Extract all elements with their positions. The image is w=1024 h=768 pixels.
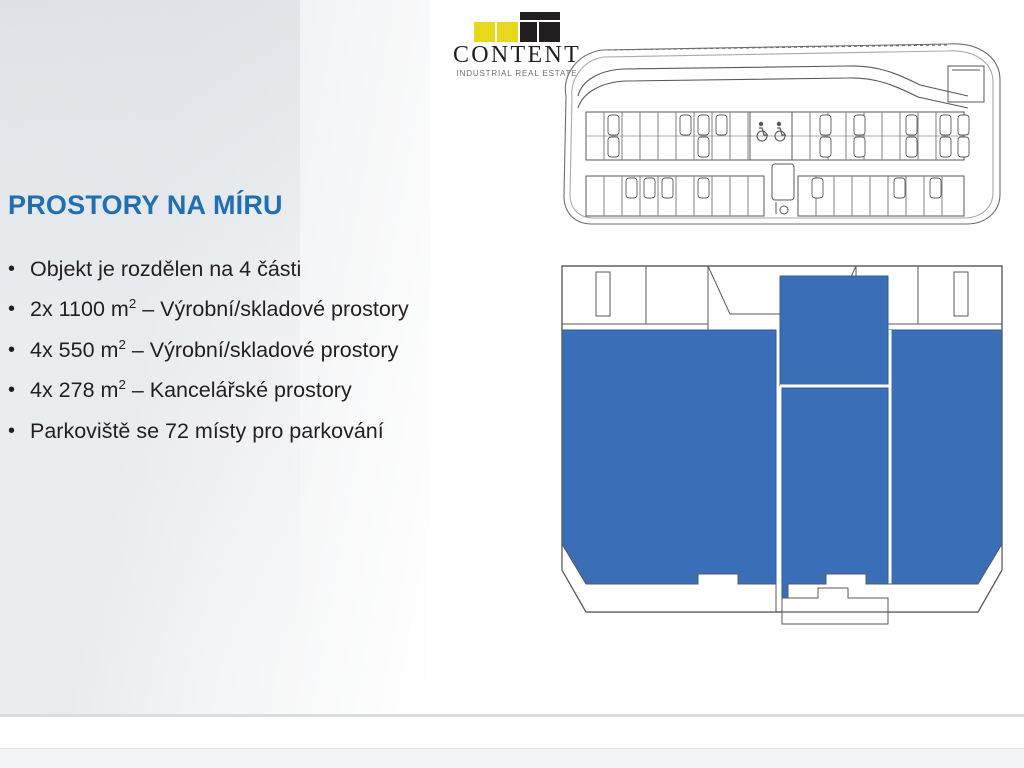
list-item-text-post: – Kancelářské prostory	[126, 378, 352, 402]
unit-block-center-top	[780, 276, 888, 386]
accessible-parking-icon	[757, 122, 786, 141]
site-plan-parking-layout	[548, 36, 1016, 236]
bullet-list: • Objekt je rozdělen na 4 části • 2x 110…	[8, 256, 528, 458]
list-item-superscript: 2	[118, 377, 125, 392]
list-item-label: 4x 550 m2 – Výrobní/skladové prostory	[30, 337, 528, 364]
list-item-text-pre: 4x 278 m	[30, 378, 118, 402]
list-item-label: Objekt je rozdělen na 4 části	[30, 256, 528, 283]
floor-plan-units	[548, 252, 1016, 644]
list-item-label: 2x 1100 m2 – Výrobní/skladové prostory	[30, 296, 528, 323]
footer-band	[0, 714, 1024, 768]
list-item-text-pre: 4x 550 m	[30, 338, 118, 362]
floor-plan-svg	[548, 252, 1016, 644]
list-item-label: 4x 278 m2 – Kancelářské prostory	[30, 377, 528, 404]
unit-block-center-bottom	[782, 388, 888, 598]
bullet-marker: •	[8, 418, 30, 444]
list-item: • 4x 550 m2 – Výrobní/skladové prostory	[8, 337, 528, 364]
list-item-superscript: 2	[118, 337, 125, 352]
list-item: • Parkoviště se 72 místy pro parkování	[8, 418, 528, 445]
list-item-label: Parkoviště se 72 místy pro parkování	[30, 418, 528, 445]
site-plan-svg	[548, 36, 1016, 236]
footer-rule-top	[0, 714, 1024, 717]
bullet-marker: •	[8, 337, 30, 363]
bullet-marker: •	[8, 377, 30, 403]
list-item: • 4x 278 m2 – Kancelářské prostory	[8, 377, 528, 404]
footer-strip	[0, 749, 1024, 768]
slide-canvas: CONTENT INDUSTRIAL REAL ESTATE PROSTORY …	[0, 0, 1024, 768]
bullet-marker: •	[8, 256, 30, 282]
list-item-text-post: – Výrobní/skladové prostory	[136, 297, 408, 321]
list-item: • 2x 1100 m2 – Výrobní/skladové prostory	[8, 296, 528, 323]
list-item-text-post: – Výrobní/skladové prostory	[126, 338, 398, 362]
unit-block-left	[562, 330, 776, 584]
bullet-marker: •	[8, 296, 30, 322]
list-item: • Objekt je rozdělen na 4 části	[8, 256, 528, 283]
list-item-text-pre: 2x 1100 m	[30, 297, 129, 321]
page-title: PROSTORY NA MÍRU	[8, 190, 283, 221]
